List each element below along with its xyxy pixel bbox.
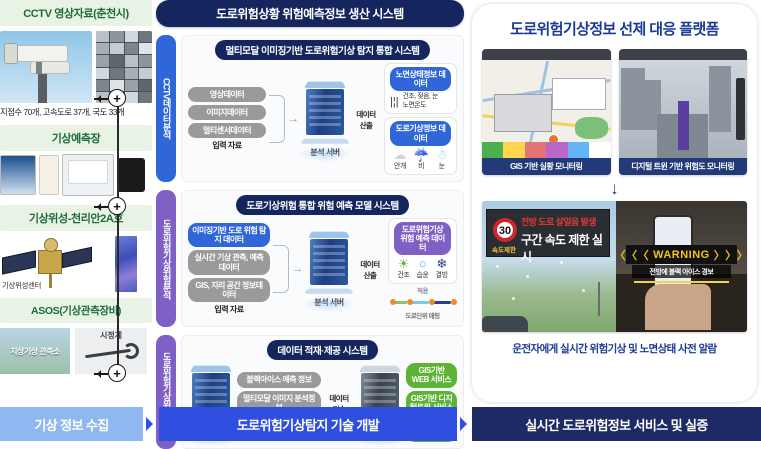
left-data-sources-column: CCTV 영상자료(춘천시) 지점수 70개, 고속도로 37개, 국도 33개…	[0, 0, 152, 395]
server-glow-2	[302, 296, 356, 312]
road-surface-item-1: 건조, 젖음, 눈	[403, 93, 438, 101]
humid-label: 습윤	[416, 272, 428, 279]
flow-arrow-icon-2: →	[292, 263, 303, 275]
input-chip-group-2: 이미징기반 도로 위험 탐지 데이터 실시간 기상 관측, 예측데이터 GIS,…	[188, 223, 270, 302]
server-body-1	[306, 89, 344, 135]
freeze-snowflake-icon: ❄	[436, 257, 448, 270]
db-server-top	[190, 365, 232, 371]
process-arrow-icon-1	[146, 417, 160, 431]
service-server-top	[359, 365, 401, 371]
satellite-row: 기상위성센터	[0, 236, 152, 292]
section-header-forecast-station: 기상예측장	[0, 125, 152, 151]
twin-3d-canvas	[619, 60, 748, 158]
vertical-tab-cctv-analysis[interactable]: CCTV데이터분석	[156, 35, 176, 182]
road-node-4	[451, 299, 457, 305]
warning-text: WARNING	[653, 249, 710, 261]
speed-limit-sign-icon: 30	[493, 218, 517, 242]
output-box-risk-prediction: 도로위험기상 위험 예측 데이터 ☀ 건조 ○ 습윤	[388, 218, 457, 285]
risk-item-freeze: ❄ 결빙	[436, 257, 448, 280]
process-step-1: 기상 정보 수집	[0, 407, 143, 441]
data-output-label-1: 데이터 산출	[351, 109, 381, 131]
output-box-road-weather: 도로기상정보 데이터 ☁ 안개 ☔ 비	[384, 117, 457, 174]
input-chip-multisensor: 멀티센서데이터	[188, 123, 266, 138]
risk-icon-row: ☀ 건조 ○ 습윤 ❄ 결빙	[394, 257, 451, 280]
digital-twin-screenshot[interactable]: 디지털 트윈 기반 위험도 모니터링	[619, 49, 748, 175]
humid-drop-icon: ○	[416, 257, 428, 270]
risk-item-humid: ○ 습윤	[416, 257, 428, 280]
input-label-2: 입력 자료	[188, 304, 270, 315]
snow-icon: ☃	[436, 148, 447, 161]
twin-building-1	[621, 68, 645, 130]
server-top-1	[304, 82, 346, 88]
road-node-2	[407, 299, 413, 305]
forecast-banner-image	[0, 155, 36, 195]
server-body-2	[310, 239, 348, 285]
gis-window-titlebar	[482, 49, 611, 60]
satellite-center-label: 기상위성센터	[2, 280, 41, 291]
input-chip-image: 이미지데이터	[188, 105, 266, 120]
server-top-2	[308, 232, 350, 238]
bottom-process-banners: 기상 정보 수집 도로위험기상탐지 기술 개발 실시간 도로위험정보 서비스 및…	[0, 403, 761, 443]
dry-label: 건조	[397, 272, 409, 279]
analysis-server-2: 분석 서버	[306, 230, 352, 308]
twin-tool-sidebar[interactable]	[736, 78, 745, 140]
twin-building-3	[709, 66, 731, 132]
section-header-asos: ASOS(기상관측장비)	[0, 298, 152, 323]
twin-risk-beam	[678, 101, 690, 150]
cctv-photo-row	[0, 31, 152, 103]
map-data-table	[552, 78, 606, 110]
down-arrow-icon: ↓	[482, 180, 747, 197]
connector-rail	[117, 96, 119, 374]
server-base-1	[300, 138, 350, 143]
satellite-body	[38, 250, 62, 274]
panel-integrated-risk-model: 도로기상위험 통합 위험 예측 모델 시스템 이미징기반 도로 위험 탐지 데이…	[181, 190, 464, 328]
vms-speed-sub-label: 속도제한	[492, 244, 516, 254]
vms-line-1: 전방 도로 살얼음 발생	[521, 215, 596, 228]
weather-icon-row: ☁ 안개 ☔ 비 ☃ 눈	[390, 148, 451, 171]
server-base-2	[304, 289, 354, 294]
map-park	[575, 117, 608, 139]
snow-label: 눈	[439, 163, 445, 170]
analysis-server-1: 분석 서버	[302, 80, 348, 158]
transmission-tower	[598, 282, 600, 316]
input-label-1: 입력 자료	[188, 140, 266, 151]
map-popup-panel	[494, 94, 552, 132]
gis-map-canvas	[482, 60, 611, 158]
twin-window-titlebar	[619, 49, 748, 60]
forecast-doc-image	[39, 155, 59, 195]
process-step-2: 도로위험기상탐지 기술 개발	[159, 407, 457, 441]
camera-pole	[38, 69, 47, 103]
visibility-meter-label: 시정계	[75, 330, 147, 341]
input-brace-1	[269, 95, 285, 143]
road-node-3	[429, 299, 435, 305]
risk-item-dry: ☀ 건조	[397, 257, 409, 280]
forecast-monitor-image	[62, 154, 114, 196]
road-surface-item-2: 노면온도	[403, 102, 438, 110]
camera-arm	[36, 62, 42, 74]
vms-roadside-photo: 30 전방 도로 살얼음 발생 구간 속도 제한 실시 속도제한	[482, 201, 616, 332]
warning-underline	[634, 281, 728, 283]
process-step-3: 실시간 도로위험정보 서비스 및 실증	[472, 407, 761, 441]
input-brace-2	[273, 245, 289, 293]
vertical-tab-risk-analysis[interactable]: 도로위험기상위험분석	[156, 190, 176, 328]
output-title-risk-prediction: 도로위험기상 위험 예측 데이터	[394, 222, 451, 256]
twin-screenshot-caption: 디지털 트윈 기반 위험도 모니터링	[619, 158, 748, 175]
vms-display-board: 30 전방 도로 살얼음 발생 구간 속도 제한 실시 속도제한	[486, 209, 610, 257]
road-segment-map	[388, 297, 457, 308]
visibility-meter-sensor	[123, 343, 139, 359]
service-gis-web: GIS기반 WEB 서비스	[406, 363, 457, 387]
flow-risk-model: 이미징기반 도로 위험 탐지 데이터 실시간 기상 관측, 예측데이터 GIS,…	[188, 218, 457, 321]
input-chip-gis: GIS, 지리 공간 정보데이터	[188, 278, 270, 302]
chevron-left-icon: 〈〈〈	[615, 247, 650, 263]
monitoring-screenshots-row: GIS 기반 실황 모니터링 디지털 트윈 기반 위험도 모니터링	[482, 49, 747, 175]
fog-icon: ☁	[394, 148, 407, 161]
plus-connector-icon-3: +	[108, 364, 126, 382]
gis-screenshot-caption: GIS 기반 실황 모니터링	[482, 158, 611, 175]
panel-title-multimodal: 멀티모달 이미징기반 도로위험기상 탐지 통합 시스템	[215, 40, 429, 60]
satellite-photo: 기상위성센터	[0, 236, 110, 292]
fog-label: 안개	[394, 163, 406, 170]
forecast-database-icon	[117, 158, 145, 192]
freeze-label: 결빙	[436, 272, 448, 279]
platform-title: 도로위험기상정보 선제 대응 플랫폼	[482, 18, 747, 39]
plus-connector-icon-1: +	[108, 89, 126, 107]
db-item-blackice: 블랙아이스 예측 정보	[237, 372, 321, 387]
feed-arrow-icon-1	[94, 98, 108, 100]
flow-arrow-icon-1: →	[288, 113, 299, 125]
panel-title-risk-model: 도로기상위험 통합 위험 예측 모델 시스템	[236, 195, 408, 215]
dry-sun-icon: ☀	[397, 257, 409, 270]
feed-arrow-icon-3	[94, 373, 108, 375]
warning-banner: 〈〈〈 WARNING 〉〉〉	[626, 245, 736, 264]
input-chip-realtime-weather: 실시간 기상 관측, 예측데이터	[188, 250, 270, 274]
center-system-column: 도로위험상황 위험예측정보 생산 시스템 CCTV데이터분석 멀티모달 이미징기…	[156, 0, 464, 395]
infographic-root: CCTV 영상자료(춘천시) 지점수 70개, 고속도로 37개, 국도 33개…	[0, 0, 761, 443]
output-title-road-weather: 도로기상정보 데이터	[390, 121, 451, 145]
center-title-banner: 도로위험상황 위험예측정보 생산 시스템	[156, 0, 464, 27]
road-node-1	[390, 299, 396, 305]
right-platform-panel: 도로위험기상정보 선제 대응 플랫폼 GIS 기반 실	[472, 4, 757, 402]
satellite-mast	[49, 274, 52, 288]
input-chip-group-1: 영상데이터 이미지데이터 멀티센서데이터	[188, 87, 266, 139]
weather-item-rain: ☔ 비	[413, 148, 429, 171]
input-chip-video: 영상데이터	[188, 87, 266, 102]
cctv-caption: 지점수 70개, 고속도로 37개, 국도 33개	[0, 106, 152, 118]
panel-title-data-delivery: 데이터 적재·제공 시스템	[267, 340, 377, 360]
ground-weather-station-photo: 지상기상 관측소	[0, 328, 70, 374]
in-vehicle-alert-photo: 〈〈〈 WARNING 〉〉〉 전방에 블랙 아이스 경보	[616, 201, 747, 332]
camera-body	[12, 45, 68, 62]
solar-panel-right	[62, 247, 92, 268]
rain-icon: ☔	[413, 148, 429, 161]
gis-monitoring-screenshot[interactable]: GIS 기반 실황 모니터링	[482, 49, 611, 175]
apply-label: 적용	[388, 285, 457, 295]
satellite-dish-icon	[44, 238, 58, 252]
system-block-cctv-analysis: CCTV데이터분석 멀티모달 이미징기반 도로위험기상 탐지 통합 시스템 영상…	[156, 35, 464, 182]
warning-subtext: 전방에 블랙 아이스 경보	[632, 265, 732, 278]
platform-caption: 운전자에게 실시간 위험기상 및 노면상태 사전 알람	[482, 341, 747, 356]
road-surface-gauge-icon: |¦|	[390, 96, 399, 108]
car-hood	[482, 316, 528, 332]
weather-item-snow: ☃ 눈	[436, 148, 447, 171]
section-header-cctv: CCTV 영상자료(춘천시)	[0, 0, 152, 26]
forecast-station-collage	[0, 151, 148, 199]
weather-item-fog: ☁ 안개	[394, 148, 407, 171]
feed-arrow-icon-2	[94, 206, 108, 208]
road-map-label: 도로단위 매핑	[388, 310, 457, 320]
chevron-right-icon: 〉〉〉	[714, 247, 747, 263]
plus-connector-icon-2: +	[108, 197, 126, 215]
panel-multimodal-imaging: 멀티모달 이미징기반 도로위험기상 탐지 통합 시스템 영상데이터 이미지데이터…	[181, 35, 464, 182]
ground-station-label: 지상기상 관측소	[0, 328, 70, 374]
output-box-road-surface: 노면상태정보 데이터 |¦| 건조, 젖음, 눈 노면온도	[384, 63, 457, 114]
input-chip-imaging-detection: 이미징기반 도로 위험 탐지 데이터	[188, 223, 270, 247]
server-glow-1	[298, 146, 352, 162]
solar-panel-left	[2, 250, 36, 274]
section-header-satellite: 기상위성-천리안2A호	[0, 205, 152, 231]
output-title-road-surface: 노면상태정보 데이터	[390, 67, 451, 91]
system-block-risk-analysis: 도로위험기상위험분석 도로기상위험 통합 위험 예측 모델 시스템 이미징기반 …	[156, 190, 464, 328]
cctv-camera-photo	[0, 31, 92, 103]
rain-label: 비	[418, 163, 424, 170]
asos-photo-row: 지상기상 관측소 시정계	[0, 328, 152, 374]
field-photos-row: 30 전방 도로 살얼음 발생 구간 속도 제한 실시 속도제한 〈〈〈	[482, 201, 747, 332]
flow-multimodal: 영상데이터 이미지데이터 멀티센서데이터 입력 자료 →	[188, 63, 457, 175]
map-legend	[482, 142, 611, 158]
vms-line-2: 구간 속도 제한 실시	[521, 231, 609, 265]
data-output-label-2: 데이터 산출	[355, 259, 385, 281]
driver-hand	[645, 284, 711, 330]
camera-lens	[4, 43, 18, 64]
